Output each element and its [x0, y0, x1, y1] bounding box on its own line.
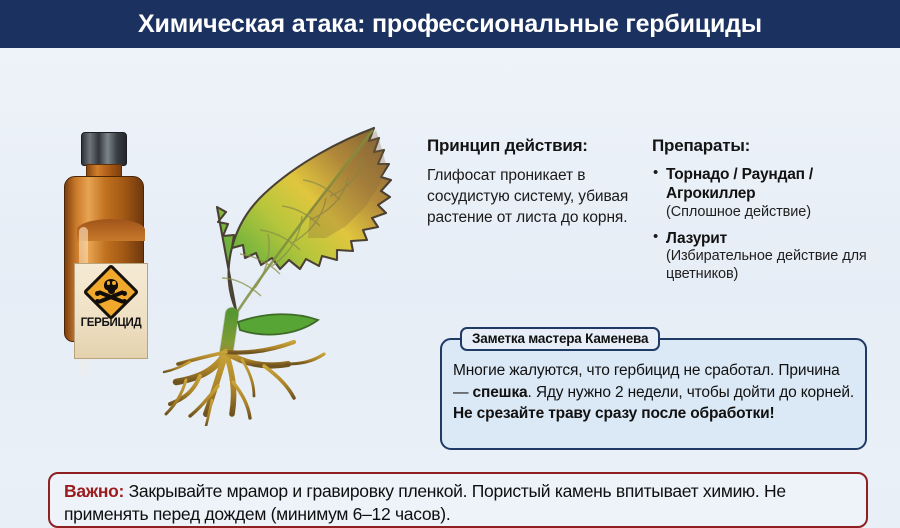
product-name: Торнадо / Раундап / Агрокиллер: [666, 165, 892, 204]
products-heading: Препараты:: [652, 136, 892, 156]
warning-body: Закрывайте мрамор и гравировку пленкой. …: [64, 481, 786, 524]
list-item: Лазурит (Избирательное действие для цвет…: [652, 229, 892, 284]
skull-and-crossbones-icon: [83, 264, 140, 321]
warning-label: Важно:: [64, 481, 124, 501]
products-list: Торнадо / Раундап / Агрокиллер (Сплошное…: [652, 165, 892, 284]
products-column: Препараты: Торнадо / Раундап / Агрокилле…: [652, 136, 892, 291]
bottle-label: ГЕРБИЦИД: [74, 263, 148, 359]
master-note-text: Многие жалуются, что гербицид не сработа…: [453, 360, 859, 425]
content-area: ГЕРБИЦИД: [0, 48, 900, 487]
note-span: . Яду нужно 2 недели, чтобы дойти до кор…: [528, 384, 855, 401]
page-header: Химическая атака: профессиональные герби…: [0, 0, 900, 48]
important-warning-box: Важно: Закрывайте мрамор и гравировку пл…: [48, 472, 868, 528]
wilting-plant-illustration: [160, 114, 410, 426]
wilting-leaf-icon: [217, 128, 391, 320]
bottle-body: ГЕРБИЦИД: [64, 176, 144, 342]
note-emphasis: спешка: [473, 384, 528, 401]
herbicide-bottle-illustration: ГЕРБИЦИД: [58, 132, 150, 344]
bottle-cap-icon: [81, 132, 127, 166]
product-note: (Избирательное действие для цветников): [666, 248, 892, 284]
principle-heading: Принцип действия:: [427, 136, 632, 156]
master-note-label: Заметка мастера Каменева: [460, 327, 660, 351]
principle-text: Глифосат проникает в сосудистую систему,…: [427, 165, 632, 228]
note-emphasis: Не срезайте траву сразу после обработки!: [453, 405, 775, 422]
product-note: (Сплошное действие): [666, 204, 892, 222]
product-name: Лазурит: [666, 229, 892, 248]
list-item: Торнадо / Раундап / Агрокиллер (Сплошное…: [652, 165, 892, 222]
page-title: Химическая атака: профессиональные герби…: [138, 10, 762, 39]
principle-column: Принцип действия: Глифосат проникает в с…: [427, 136, 632, 228]
master-note-box: Заметка мастера Каменева Многие жалуются…: [440, 338, 867, 450]
lower-leaflet-icon: [238, 314, 318, 334]
plant-roots-icon: [164, 342, 324, 426]
